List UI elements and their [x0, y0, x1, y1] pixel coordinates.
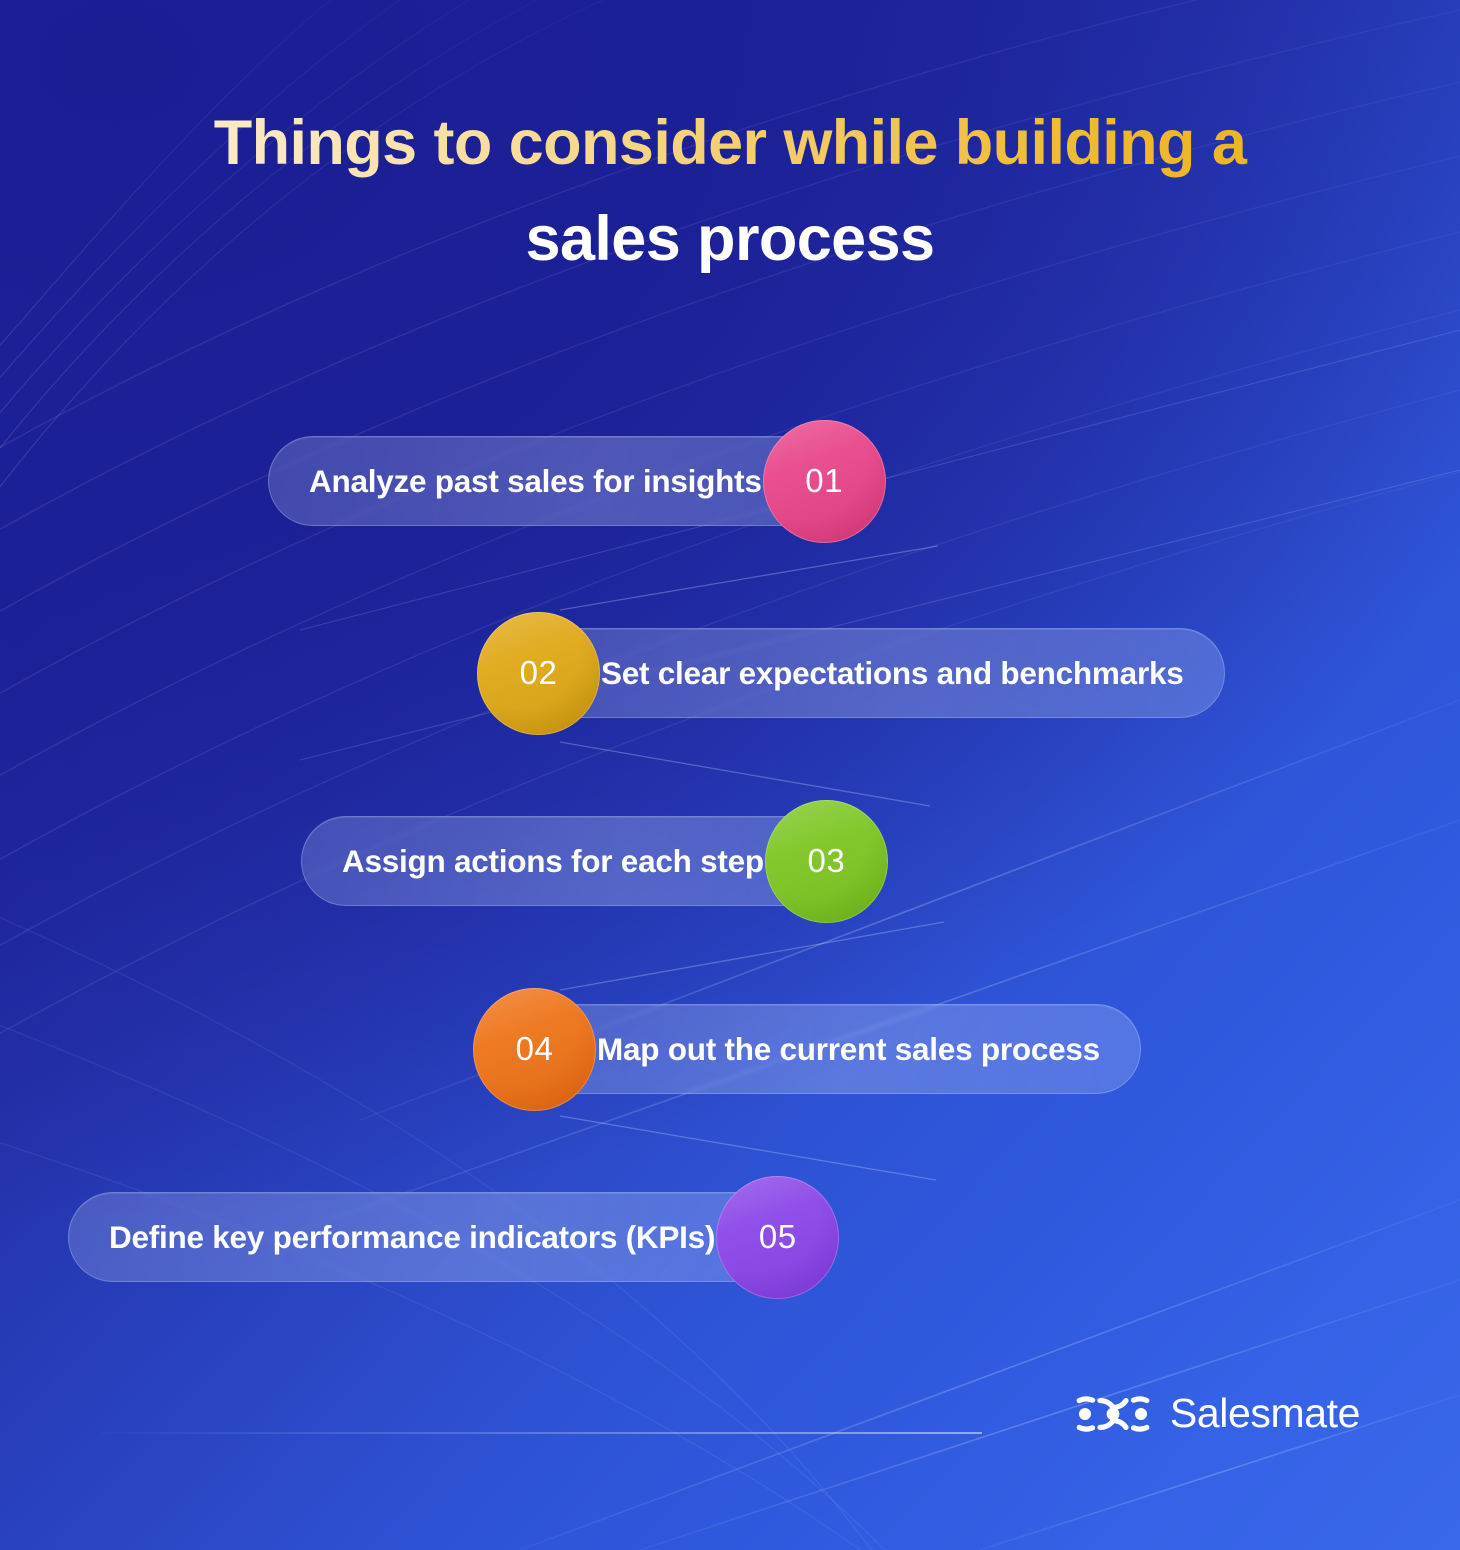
step-number-05: 05 [759, 1218, 797, 1256]
step-label-03: Assign actions for each step [342, 843, 764, 880]
footer-divider [100, 1432, 982, 1434]
step-item-01[interactable]: 01 Analyze past sales for insights [268, 418, 886, 544]
brand-name: Salesmate [1170, 1390, 1360, 1437]
step-number-04: 04 [516, 1030, 554, 1068]
step-badge-03: 03 [765, 800, 888, 923]
step-badge-05: 05 [716, 1176, 839, 1299]
footer: Salesmate [0, 1370, 1460, 1550]
step-label-04: Map out the current sales process [597, 1031, 1100, 1068]
step-item-03[interactable]: 03 Assign actions for each step [301, 798, 888, 924]
step-label-01: Analyze past sales for insights [309, 463, 762, 500]
step-item-04[interactable]: 04 Map out the current sales process [473, 986, 1141, 1112]
page-title: Things to consider while building a sale… [0, 96, 1460, 288]
step-badge-01: 01 [763, 420, 886, 543]
step-item-05[interactable]: 05 Define key performance indicators (KP… [68, 1174, 839, 1300]
brand-lockup[interactable]: Salesmate [1076, 1390, 1360, 1437]
infographic-poster: Things to consider while building a sale… [0, 0, 1460, 1550]
step-label-05: Define key performance indicators (KPIs) [109, 1219, 715, 1256]
step-number-03: 03 [808, 842, 846, 880]
step-label-02: Set clear expectations and benchmarks [601, 655, 1184, 692]
step-number-01: 01 [805, 462, 843, 500]
salesmate-logo-icon [1076, 1394, 1150, 1434]
step-badge-04: 04 [473, 988, 596, 1111]
title-line-1: Things to consider while building a [80, 96, 1380, 192]
title-line-2: sales process [80, 192, 1380, 288]
step-number-02: 02 [520, 654, 558, 692]
step-item-02[interactable]: 02 Set clear expectations and benchmarks [477, 610, 1225, 736]
step-badge-02: 02 [477, 612, 600, 735]
